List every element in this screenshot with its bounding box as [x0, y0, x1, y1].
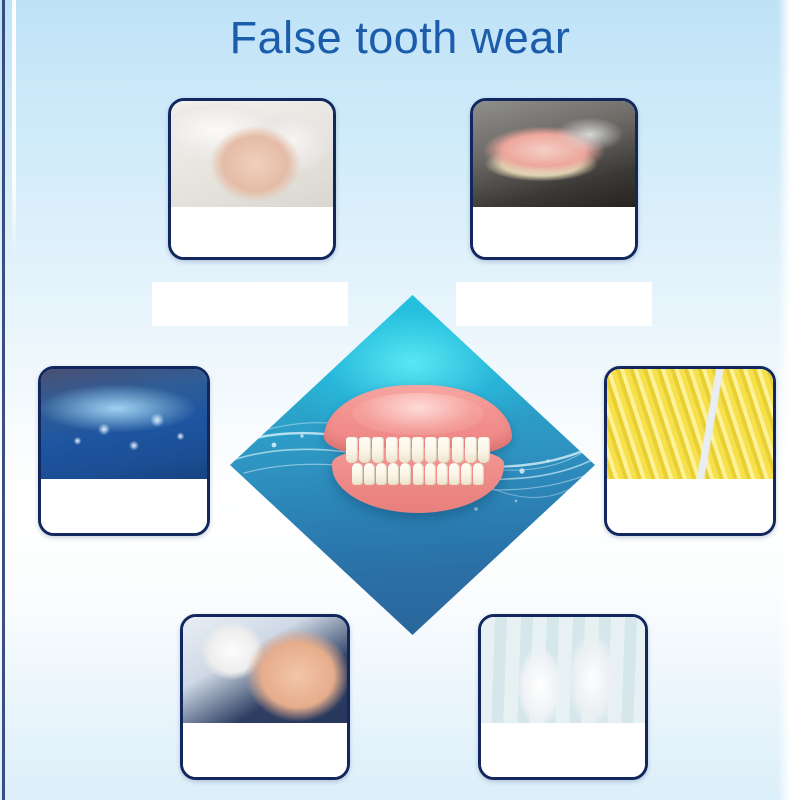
card-bottles[interactable] [478, 614, 648, 780]
card-bubbles-caption [41, 479, 207, 533]
card-hand-clean-caption [183, 723, 347, 777]
lower-gum [332, 447, 504, 513]
card-brush-caption [607, 479, 773, 533]
white-plastic-bottles-photo [481, 617, 645, 729]
card-denture-tool[interactable] [470, 98, 638, 260]
page-title: False tooth wear [0, 12, 800, 64]
right-edge-fade [778, 0, 800, 800]
denture-diamond-panel [230, 295, 595, 635]
diamond-shape [230, 295, 595, 635]
card-bubbles[interactable] [38, 366, 210, 536]
card-brush[interactable] [604, 366, 776, 536]
elderly-woman-sleeping-photo [171, 101, 333, 213]
lower-teeth-row [346, 463, 490, 485]
left-edge-rule [2, 0, 5, 800]
card-sleep-caption [171, 207, 333, 257]
denture-with-dental-tool-photo [473, 101, 635, 213]
poster-canvas: False tooth wear [0, 0, 800, 800]
card-bottles-caption [481, 723, 645, 777]
hand-holding-cleaning-items-photo [183, 617, 347, 729]
caption-slab-top-left [152, 282, 348, 326]
upper-gum [324, 385, 512, 457]
denture-illustration [318, 385, 518, 525]
card-hand-clean[interactable] [180, 614, 350, 780]
palate [352, 393, 484, 435]
upper-teeth-row [340, 437, 496, 463]
caption-slab-top-right [456, 282, 652, 326]
water-splash-icon [230, 295, 595, 635]
card-sleep[interactable] [168, 98, 336, 260]
card-denture-tool-caption [473, 207, 635, 257]
effervescent-bubbles-photo [41, 369, 207, 485]
denture-brush-bristles-photo [607, 369, 773, 485]
